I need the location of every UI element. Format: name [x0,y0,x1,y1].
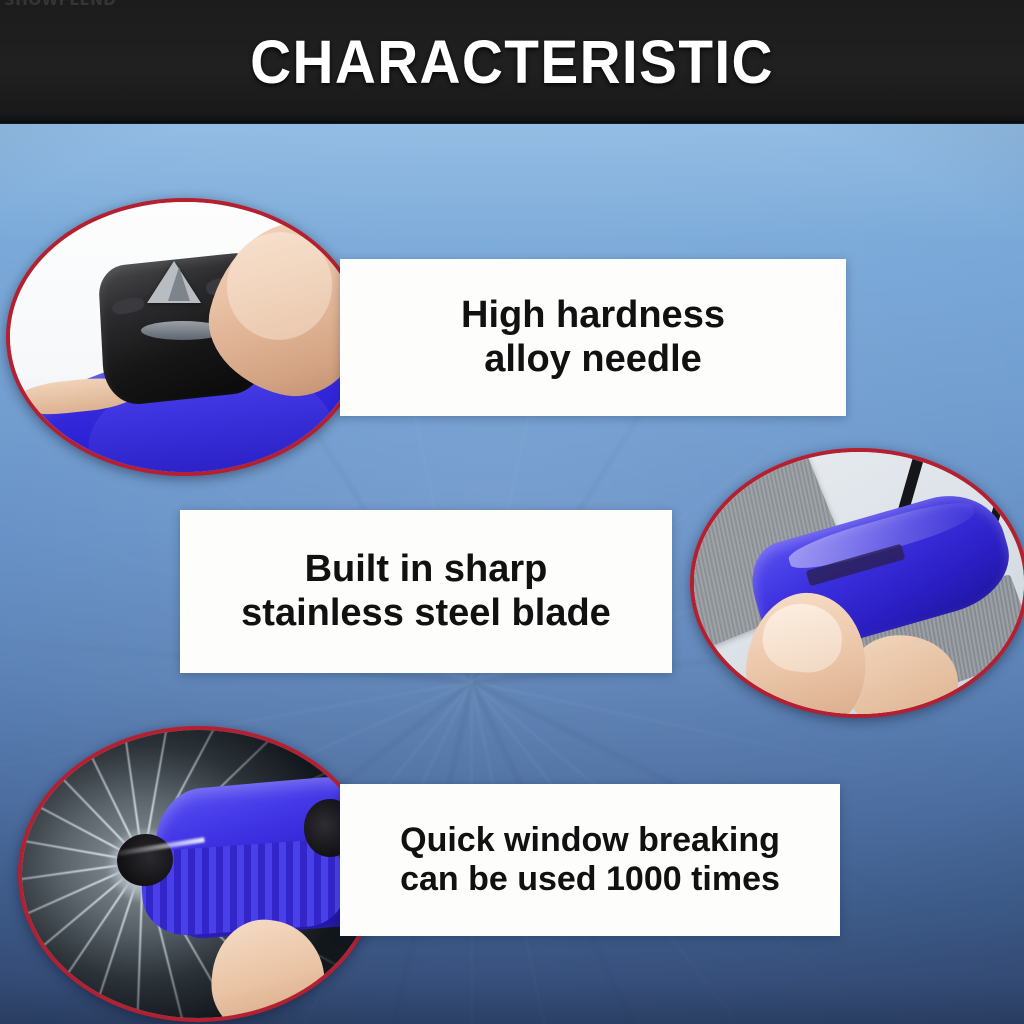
feature-2-line-1: Built in sharp [305,548,548,591]
infographic-canvas: SHOWFLEND CHARACTERISTIC [0,0,1024,1024]
feature-2-line-2: stainless steel blade [241,592,611,635]
alloy-spike-shadow [168,267,190,301]
seatbelt-blade-photo [690,448,1024,718]
window-breaking-photo [18,726,378,1022]
page-title: CHARACTERISTIC [36,0,988,124]
feature-1-line-2: alloy needle [484,338,702,381]
feature-3-line-2: can be used 1000 times [400,860,780,899]
feature-callout-1: High hardness alloy needle [340,259,846,416]
header-band: SHOWFLEND CHARACTERISTIC [0,0,1024,124]
feature-callout-2: Built in sharp stainless steel blade [180,510,672,673]
feature-3-line-1: Quick window breaking [400,821,780,860]
alloy-needle-closeup-photo [6,198,364,476]
feature-1-line-1: High hardness [461,294,725,337]
feature-callout-3: Quick window breaking can be used 1000 t… [340,784,840,936]
